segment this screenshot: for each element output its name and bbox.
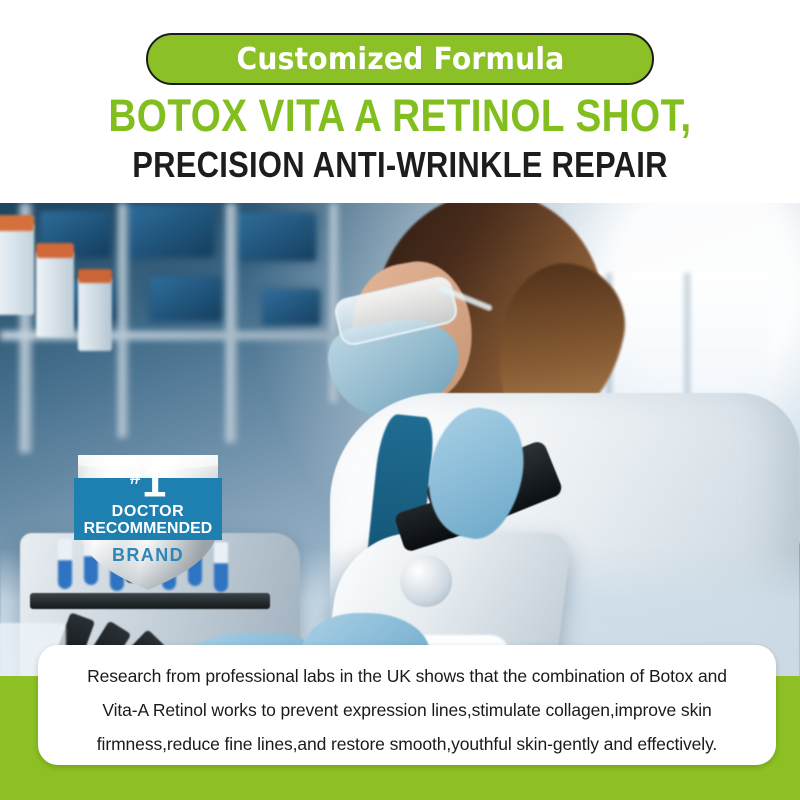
reagent-bottle-cap — [0, 215, 34, 231]
page-subtitle: PRECISION ANTI-WRINKLE REPAIR — [56, 145, 744, 185]
reagent-bottle — [78, 277, 112, 351]
badge-banner: #1 DOCTOR RECOMMENDED — [74, 478, 222, 540]
badge-line-brand: BRAND — [72, 545, 224, 566]
microscope-stage — [30, 593, 270, 609]
badge-line-recommended: RECOMMENDED — [84, 520, 213, 538]
badge-rank: #1 — [74, 456, 222, 504]
rank-number: 1 — [142, 457, 166, 506]
customized-formula-pill: Customized Formula — [146, 33, 654, 85]
info-line-2: Vita-A Retinol works to prevent expressi… — [66, 693, 748, 727]
doctor-recommended-badge: #1 DOCTOR RECOMMENDED BRAND — [72, 449, 224, 594]
info-line-1: Research from professional labs in the U… — [66, 659, 748, 693]
reagent-bottle-cap — [78, 269, 112, 283]
lab-photo: #1 DOCTOR RECOMMENDED BRAND — [0, 203, 800, 698]
info-panel: Research from professional labs in the U… — [38, 645, 776, 765]
reagent-bottle-cap — [36, 243, 74, 258]
pill-label: Customized Formula — [236, 42, 564, 77]
page-title: BOTOX VITA A RETINOL SHOT, — [56, 92, 744, 140]
reagent-bottle — [0, 223, 34, 315]
header-section: Customized Formula BOTOX VITA A RETINOL … — [0, 0, 800, 203]
info-line-3: firmness,reduce fine lines,and restore s… — [66, 727, 748, 761]
hash-symbol: # — [130, 467, 141, 489]
reagent-bottle — [36, 251, 74, 337]
microscope-knob — [400, 555, 452, 607]
product-poster: Customized Formula BOTOX VITA A RETINOL … — [0, 0, 800, 800]
